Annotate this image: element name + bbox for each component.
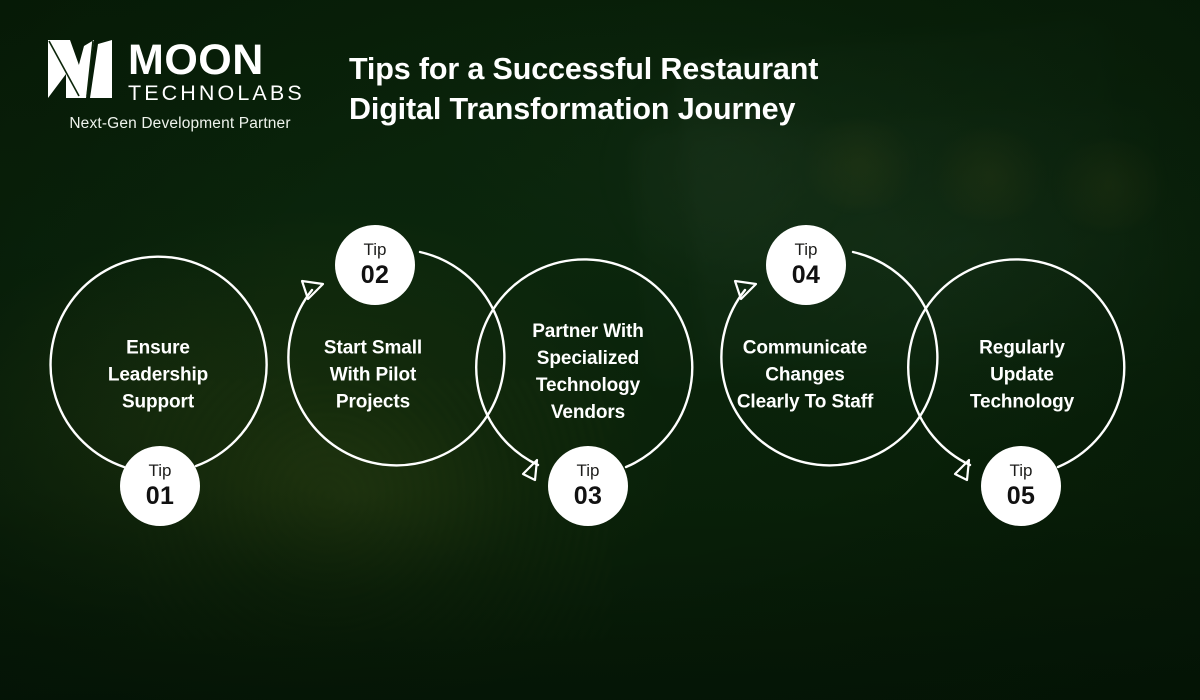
step-badge-2-number: 02 [361, 261, 389, 289]
step-label-3: Partner With Specialized Technology Vend… [491, 319, 686, 427]
step-badge-2-word: Tip [364, 241, 387, 259]
step-label-4: Communicate Changes Clearly To Staff [700, 336, 910, 417]
step-badge-2[interactable]: Tip 02 [335, 225, 415, 305]
step-label-4-line-1: Communicate [700, 336, 910, 363]
step-label-5-line-2: Update [925, 363, 1120, 390]
step-badge-3-word: Tip [577, 462, 600, 480]
step-label-1-line-1: Ensure [68, 336, 248, 363]
step-label-2-line-1: Start Small [281, 336, 466, 363]
arrowhead-step-3 [523, 460, 537, 480]
step-label-1-line-2: Leadership [68, 363, 248, 390]
step-badge-4-word: Tip [795, 241, 818, 259]
step-badge-1-word: Tip [149, 462, 172, 480]
step-label-3-line-2: Specialized [491, 346, 686, 373]
step-label-1-line-3: Support [68, 389, 248, 416]
step-label-4-line-2: Changes [700, 363, 910, 390]
step-badge-1[interactable]: Tip 01 [120, 446, 200, 526]
step-label-5-line-1: Regularly [925, 336, 1120, 363]
step-badge-1-number: 01 [146, 482, 174, 510]
tips-flow-diagram: Ensure Leadership Support Start Small Wi… [0, 0, 1200, 700]
step-label-4-line-3: Clearly To Staff [700, 389, 910, 416]
step-label-2: Start Small With Pilot Projects [281, 336, 466, 417]
step-label-5-line-3: Technology [925, 389, 1120, 416]
step-badge-5-word: Tip [1010, 462, 1033, 480]
step-badge-4[interactable]: Tip 04 [766, 225, 846, 305]
step-badge-3-number: 03 [574, 482, 602, 510]
step-badge-3[interactable]: Tip 03 [548, 446, 628, 526]
step-label-2-line-3: Projects [281, 389, 466, 416]
step-label-2-line-2: With Pilot [281, 363, 466, 390]
step-badge-5-number: 05 [1007, 482, 1035, 510]
step-badge-4-number: 04 [792, 261, 820, 289]
step-label-5: Regularly Update Technology [925, 336, 1120, 417]
step-label-3-line-3: Technology [491, 373, 686, 400]
step-badge-5[interactable]: Tip 05 [981, 446, 1061, 526]
step-label-1: Ensure Leadership Support [68, 336, 248, 417]
arrowhead-step-5 [955, 460, 969, 480]
step-label-3-line-1: Partner With [491, 319, 686, 346]
step-label-3-line-4: Vendors [491, 400, 686, 427]
